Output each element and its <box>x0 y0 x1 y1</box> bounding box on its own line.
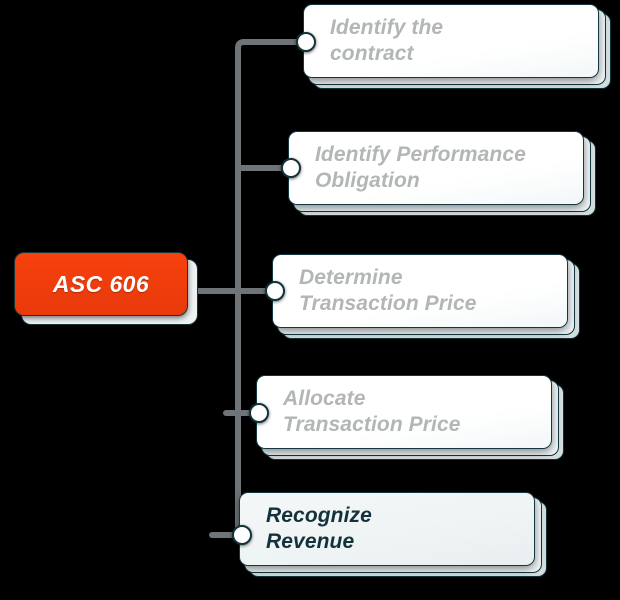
step-node-1-label: Identify the contract <box>304 15 457 68</box>
step-node-4-label: Allocate Transaction Price <box>257 386 475 439</box>
root-node-label: ASC 606 <box>53 271 149 298</box>
step-node-2-label-line1: Identify Performance <box>315 142 526 168</box>
step-node-4-label-line2: Transaction Price <box>283 412 461 438</box>
connector-dot-4[interactable] <box>249 403 269 423</box>
connector-dot-2[interactable] <box>281 158 301 178</box>
step-node-3[interactable]: Determine Transaction Price <box>272 254 568 328</box>
root-node[interactable]: ASC 606 <box>14 252 194 322</box>
connector-dot-1[interactable] <box>296 32 316 52</box>
diagram-canvas: ASC 606 Identify the contract Identify P… <box>0 0 620 600</box>
step-node-3-label: Determine Transaction Price <box>273 265 491 318</box>
step-node-1[interactable]: Identify the contract <box>303 4 599 78</box>
step-node-2-label: Identify Performance Obligation <box>289 142 540 195</box>
step-node-5[interactable]: Recognize Revenue <box>239 492 535 566</box>
step-node-1-box[interactable]: Identify the contract <box>303 4 599 78</box>
step-node-5-label-line1: Recognize <box>266 503 372 529</box>
step-node-1-label-line2: contract <box>330 41 443 67</box>
step-node-2[interactable]: Identify Performance Obligation <box>288 131 584 205</box>
step-node-3-label-line1: Determine <box>299 265 477 291</box>
connector-dot-5[interactable] <box>232 525 252 545</box>
root-node-box[interactable]: ASC 606 <box>14 252 188 316</box>
step-node-5-label: Recognize Revenue <box>240 503 386 556</box>
step-node-2-box[interactable]: Identify Performance Obligation <box>288 131 584 205</box>
step-node-5-label-line2: Revenue <box>266 529 372 555</box>
step-node-4-box[interactable]: Allocate Transaction Price <box>256 375 552 449</box>
step-node-4[interactable]: Allocate Transaction Price <box>256 375 552 449</box>
step-node-3-box[interactable]: Determine Transaction Price <box>272 254 568 328</box>
step-node-2-label-line2: Obligation <box>315 168 526 194</box>
step-node-1-label-line1: Identify the <box>330 15 443 41</box>
step-node-4-label-line1: Allocate <box>283 386 461 412</box>
step-node-5-box[interactable]: Recognize Revenue <box>239 492 535 566</box>
step-node-3-label-line2: Transaction Price <box>299 291 477 317</box>
connector-dot-3[interactable] <box>265 281 285 301</box>
